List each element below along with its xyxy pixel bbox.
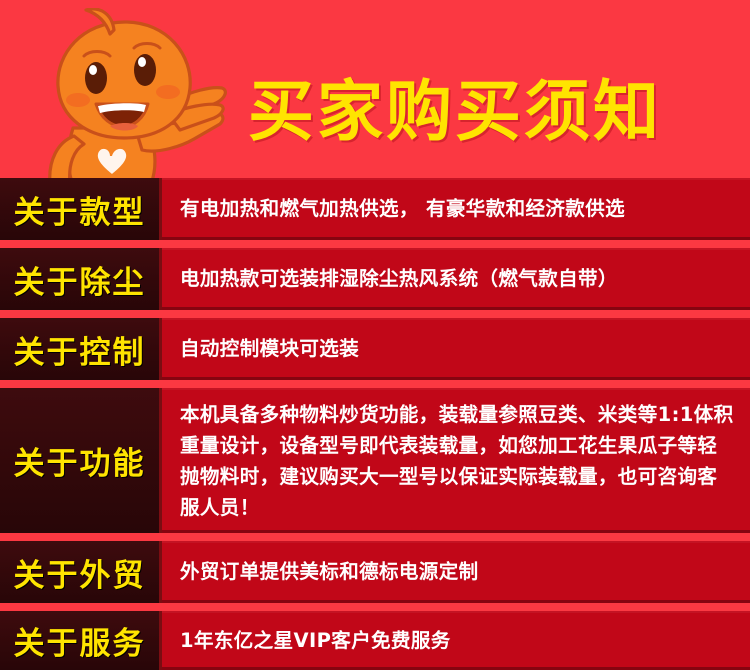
notice-row-control: 关于控制 自动控制模块可选装 bbox=[0, 318, 750, 380]
row-label-export: 关于外贸 bbox=[0, 541, 162, 603]
row-content-text: 有电加热和燃气加热供选， 有豪华款和经济款供选 bbox=[180, 194, 625, 224]
row-content-text: 本机具备多种物料炒货功能，装载量参照豆类、米类等1:1体积重量设计，设备型号即代… bbox=[180, 399, 736, 523]
notice-row-export: 关于外贸 外贸订单提供美标和德标电源定制 bbox=[0, 541, 750, 603]
notice-row-dust: 关于除尘 电加热款可选装排湿除尘热风系统（燃气款自带） bbox=[0, 248, 750, 310]
row-label-dust: 关于除尘 bbox=[0, 248, 162, 310]
mascot-icon bbox=[18, 8, 233, 183]
poster-header: 买家购买须知 bbox=[0, 0, 750, 178]
row-content-text: 自动控制模块可选装 bbox=[180, 334, 359, 364]
row-content-text: 电加热款可选装排湿除尘热风系统（燃气款自带） bbox=[180, 264, 618, 294]
row-label-text: 关于功能 bbox=[14, 438, 146, 483]
buyer-notice-poster: 买家购买须知 关于款型 有电加热和燃气加热供选， 有豪华款和经济款供选 关于除尘… bbox=[0, 0, 750, 670]
row-content-export: 外贸订单提供美标和德标电源定制 bbox=[180, 541, 736, 603]
row-content-text: 外贸订单提供美标和德标电源定制 bbox=[180, 557, 479, 587]
row-label-text: 关于款型 bbox=[14, 187, 146, 232]
row-label-text: 关于服务 bbox=[14, 618, 146, 663]
row-content-control: 自动控制模块可选装 bbox=[180, 318, 736, 380]
row-label-model: 关于款型 bbox=[0, 178, 162, 240]
row-label-control: 关于控制 bbox=[0, 318, 162, 380]
row-content-service: 1年东亿之星VIP客户免费服务 bbox=[180, 611, 736, 670]
row-content-model: 有电加热和燃气加热供选， 有豪华款和经济款供选 bbox=[180, 178, 736, 240]
row-label-text: 关于除尘 bbox=[14, 257, 146, 302]
page-title: 买家购买须知 bbox=[248, 62, 738, 162]
row-content-dust: 电加热款可选装排湿除尘热风系统（燃气款自带） bbox=[180, 248, 736, 310]
row-label-text: 关于控制 bbox=[14, 327, 146, 372]
row-label-function: 关于功能 bbox=[0, 388, 162, 533]
notice-row-service: 关于服务 1年东亿之星VIP客户免费服务 bbox=[0, 611, 750, 670]
row-content-text: 1年东亿之星VIP客户免费服务 bbox=[180, 626, 451, 656]
row-content-function: 本机具备多种物料炒货功能，装载量参照豆类、米类等1:1体积重量设计，设备型号即代… bbox=[180, 388, 736, 533]
notice-row-model: 关于款型 有电加热和燃气加热供选， 有豪华款和经济款供选 bbox=[0, 178, 750, 240]
row-label-text: 关于外贸 bbox=[14, 550, 146, 595]
notice-row-function: 关于功能 本机具备多种物料炒货功能，装载量参照豆类、米类等1:1体积重量设计，设… bbox=[0, 388, 750, 533]
row-label-service: 关于服务 bbox=[0, 611, 162, 670]
